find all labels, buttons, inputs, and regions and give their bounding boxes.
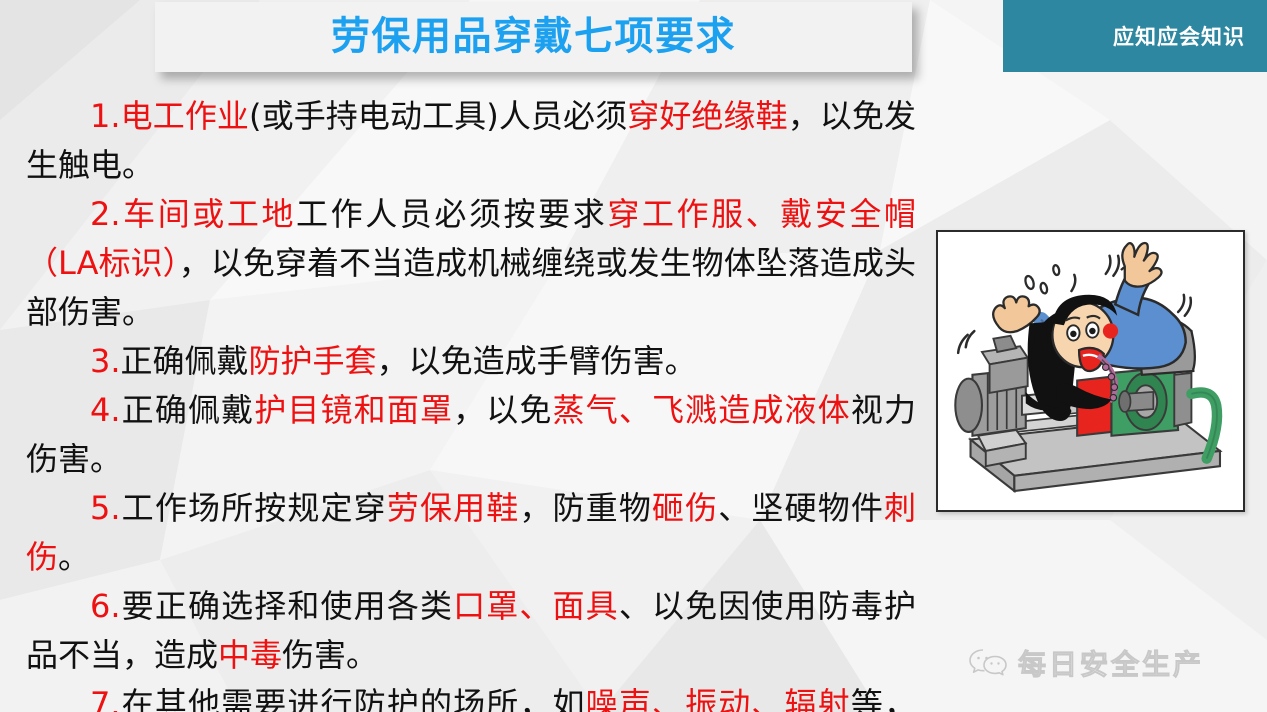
requirement-text: 工作人员必须按要求 bbox=[296, 195, 607, 233]
requirement-number: 2. bbox=[90, 195, 121, 233]
wechat-icon bbox=[968, 647, 1008, 679]
requirement-number: 6. bbox=[90, 587, 121, 625]
requirement-highlight: 电工作业 bbox=[121, 97, 249, 135]
requirement-text: ，防重物 bbox=[519, 489, 652, 527]
requirement-highlight: 护目镜和面罩 bbox=[254, 391, 453, 429]
page-title: 劳保用品穿戴七项要求 bbox=[155, 18, 912, 57]
requirement-item: 2.车间或工地工作人员必须按要求穿工作服、戴安全帽（LA标识），以免穿着不当造成… bbox=[26, 190, 916, 337]
watermark: 每日安全生产 bbox=[968, 640, 1228, 686]
corner-banner: 应知应会知识 bbox=[1003, 0, 1267, 72]
requirement-highlight: 砸伤 bbox=[652, 489, 718, 527]
requirement-highlight: 口罩、面具 bbox=[453, 587, 619, 625]
requirement-highlight: 车间或工地 bbox=[121, 195, 297, 233]
requirement-highlight: 劳保用鞋 bbox=[387, 489, 520, 527]
requirement-text: 要正确选择和使用各类 bbox=[121, 587, 454, 625]
requirement-text: 正确佩戴 bbox=[121, 342, 249, 380]
requirement-number: 1. bbox=[90, 97, 121, 135]
requirement-text: 、坚硬物件 bbox=[718, 489, 884, 527]
corner-banner-label: 应知应会知识 bbox=[1113, 21, 1245, 51]
requirement-text: 。 bbox=[58, 538, 90, 576]
requirement-item: 5.工作场所按规定穿劳保用鞋，防重物砸伤、坚硬物件刺伤。 bbox=[26, 484, 916, 582]
requirement-highlight: 防护手套 bbox=[249, 342, 377, 380]
illustration-frame bbox=[936, 230, 1245, 512]
requirement-number: 7. bbox=[90, 685, 121, 712]
requirement-number: 4. bbox=[90, 391, 121, 429]
requirement-highlight: 蒸气、飞溅造成液体 bbox=[553, 391, 851, 429]
slide-canvas: 劳保用品穿戴七项要求 应知应会知识 1.电工作业(或手持电动工具)人员必须穿好绝… bbox=[0, 0, 1267, 712]
requirement-text: 工作场所按规定穿 bbox=[121, 489, 387, 527]
body-copy: 1.电工作业(或手持电动工具)人员必须穿好绝缘鞋，以免发生触电。2.车间或工地工… bbox=[26, 92, 916, 712]
requirement-number: 5. bbox=[90, 489, 121, 527]
requirement-highlight: 穿好绝缘鞋 bbox=[627, 97, 787, 135]
requirement-text: (或手持电动工具)人员必须 bbox=[249, 97, 627, 135]
requirement-highlight: 噪声、振动、辐射 bbox=[586, 685, 851, 712]
requirement-text: 在其他需要进行防护的场所，如 bbox=[121, 685, 586, 712]
title-panel: 劳保用品穿戴七项要求 bbox=[155, 2, 912, 72]
requirement-item: 7.在其他需要进行防护的场所，如噪声、振动、辐射等，也要正确佩戴和使用劳动防护用… bbox=[26, 680, 916, 712]
requirement-text: ，以免造成手臂伤害。 bbox=[377, 342, 697, 380]
requirement-text: ，以免 bbox=[453, 391, 552, 429]
requirement-item: 3.正确佩戴防护手套，以免造成手臂伤害。 bbox=[26, 337, 916, 386]
requirement-text: 正确佩戴 bbox=[121, 391, 255, 429]
requirement-item: 6.要正确选择和使用各类口罩、面具、以免因使用防毒护品不当，造成中毒伤害。 bbox=[26, 582, 916, 680]
requirement-number: 3. bbox=[90, 342, 121, 380]
lathe-hair-entanglement-illustration bbox=[938, 232, 1243, 510]
requirement-item: 1.电工作业(或手持电动工具)人员必须穿好绝缘鞋，以免发生触电。 bbox=[26, 92, 916, 190]
requirement-item: 4.正确佩戴护目镜和面罩，以免蒸气、飞溅造成液体视力伤害。 bbox=[26, 386, 916, 484]
watermark-label: 每日安全生产 bbox=[1018, 643, 1204, 683]
requirement-text: 伤害。 bbox=[282, 636, 378, 674]
requirement-highlight: 中毒 bbox=[218, 636, 282, 674]
